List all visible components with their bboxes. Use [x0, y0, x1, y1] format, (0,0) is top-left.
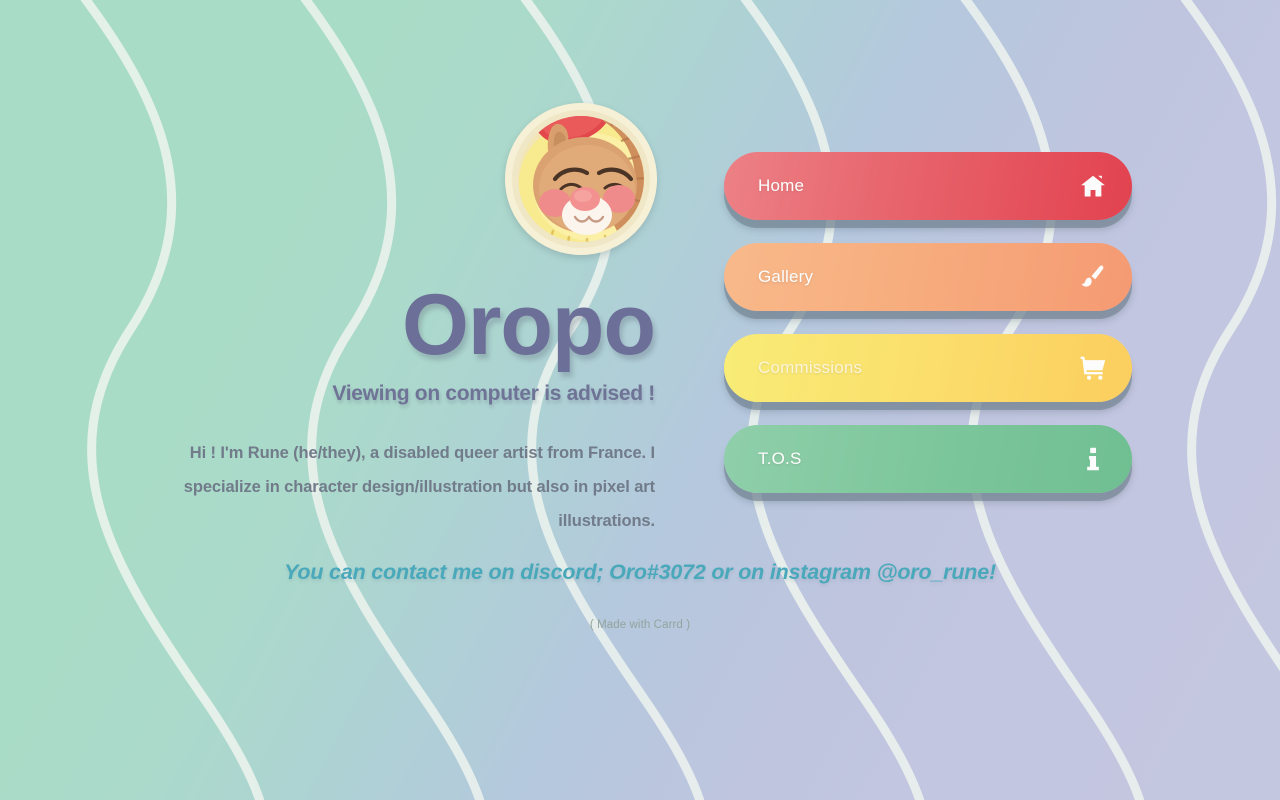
footer-credit: ( Made with Carrd ): [0, 619, 1280, 631]
nav-label-home: Home: [758, 176, 804, 196]
nav-label-commissions: Commissions: [758, 358, 862, 378]
landing-page: Oropo Viewing on computer is advised ! H…: [0, 0, 1280, 800]
bio-text: Hi ! I'm Rune (he/they), a disabled quee…: [155, 436, 655, 538]
nav-label-tos: T.O.S: [758, 449, 802, 469]
avatar-character-icon: [505, 103, 657, 255]
nav-button-gallery[interactable]: Gallery: [724, 243, 1132, 311]
nav-button-commissions[interactable]: Commissions: [724, 334, 1132, 402]
cart-icon: [1079, 354, 1107, 382]
nav-label-gallery: Gallery: [758, 267, 813, 287]
paintbrush-icon: [1079, 263, 1107, 291]
main-navigation: Home Gallery Commissions: [724, 152, 1134, 516]
contact-text: You can contact me on discord; Oro#3072 …: [0, 560, 1280, 585]
profile-column: Oropo Viewing on computer is advised ! H…: [0, 0, 680, 800]
page-subtitle: Viewing on computer is advised !: [0, 382, 655, 406]
page-title: Oropo: [0, 282, 655, 368]
nav-button-home[interactable]: Home: [724, 152, 1132, 220]
avatar: [505, 103, 657, 255]
nav-button-tos[interactable]: T.O.S: [724, 425, 1132, 493]
info-icon: [1079, 445, 1107, 473]
home-icon: [1079, 172, 1107, 200]
